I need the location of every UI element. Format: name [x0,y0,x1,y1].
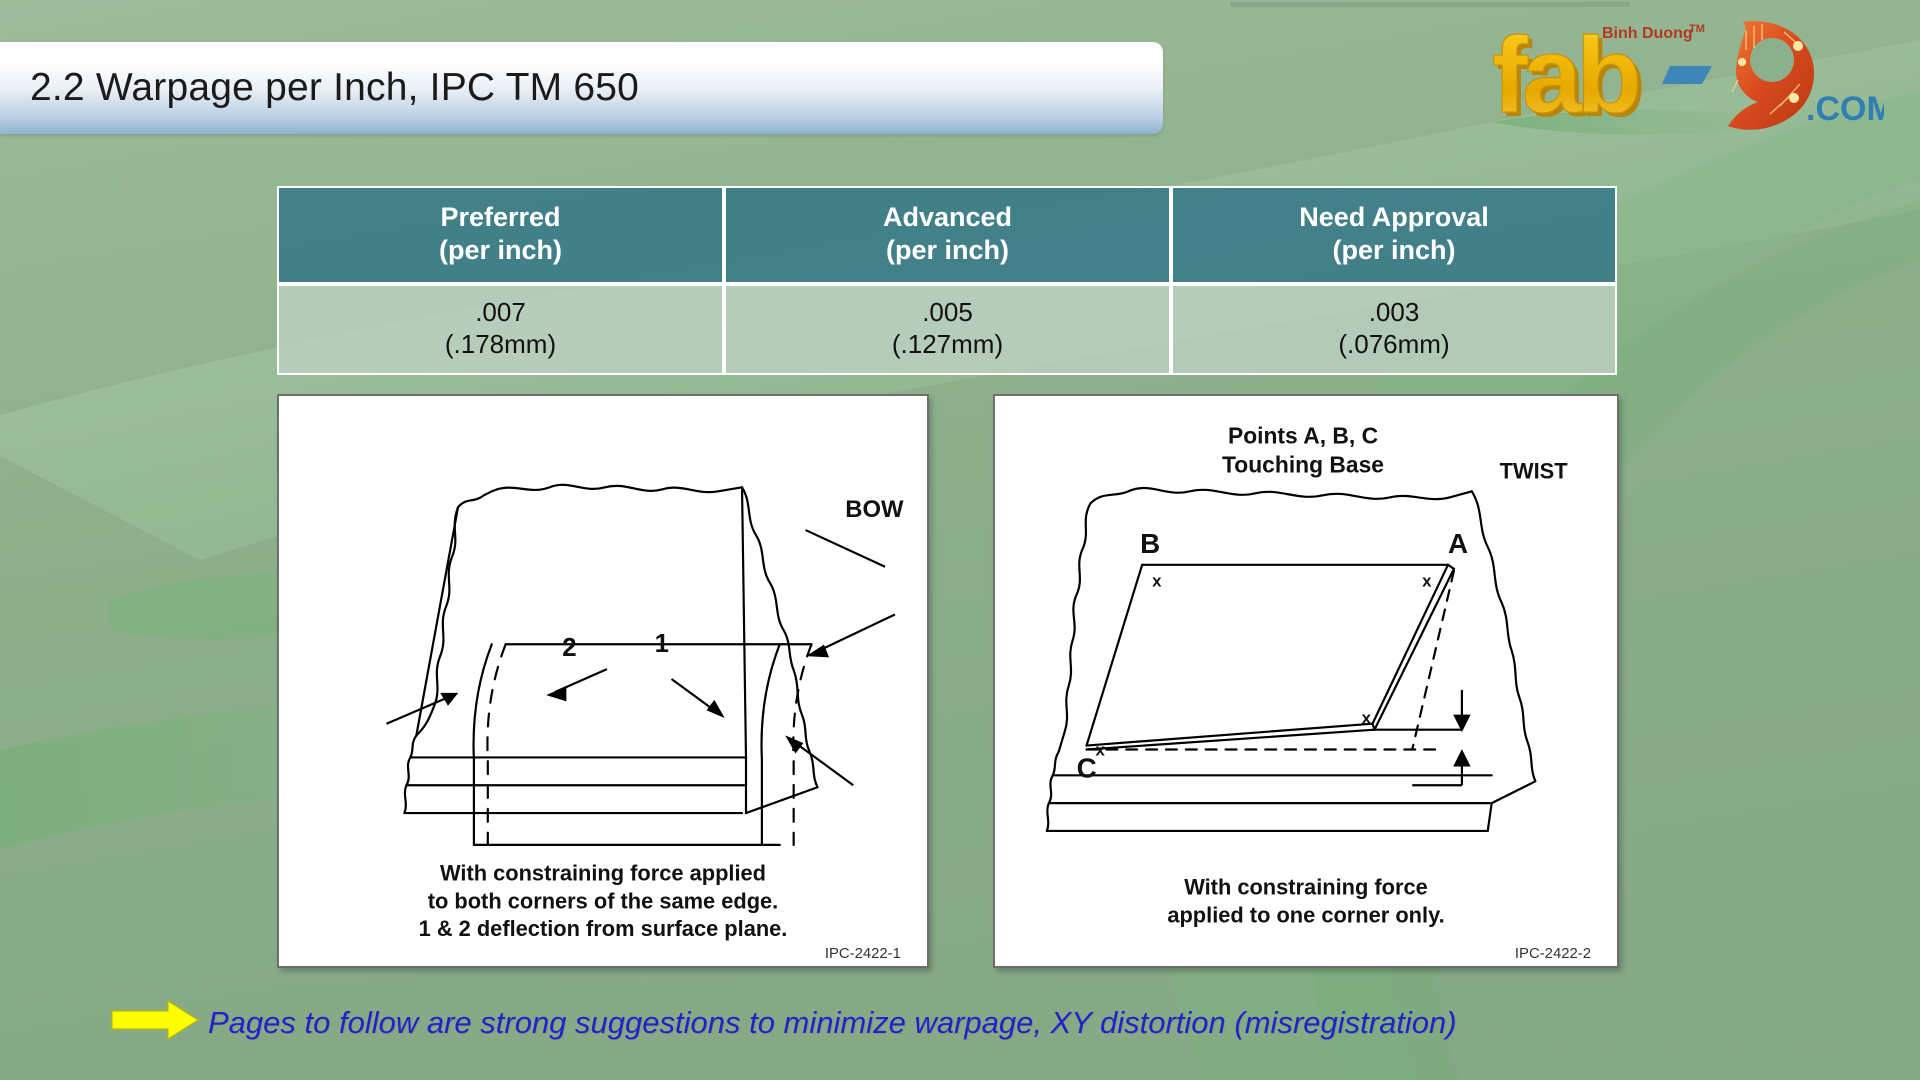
twist-heading-line-2: Touching Base [1222,451,1384,477]
column-header-line2: (per inch) [439,235,562,265]
bow-caption-line-3: 1 & 2 deflection from surface plane. [419,916,788,941]
twist-marker-c: x [1095,740,1105,759]
table-row: .007 (.178mm) .005 (.127mm) .003 (.076mm… [277,284,1617,375]
bow-diagram-panel: 2 1 BOW With constraining force applied … [277,394,929,968]
column-header-need-approval: Need Approval (per inch) [1171,186,1617,284]
bow-callout-2: 2 [562,634,576,662]
cell-advanced-value: .005 (.127mm) [724,284,1171,375]
cell-preferred-value: .007 (.178mm) [277,284,724,375]
twist-label: TWIST [1500,458,1569,483]
column-header-advanced: Advanced (per inch) [724,186,1171,284]
twist-reference: IPC-2422-2 [1515,946,1591,962]
bow-caption-line-1: With constraining force applied [440,861,766,886]
column-header-line2: (per inch) [1332,235,1455,265]
value-inch: .003 [1369,297,1420,327]
bow-reference: IPC-2422-1 [825,946,901,962]
footer-note-row: Pages to follow are strong suggestions t… [110,995,1870,1051]
twist-point-label-b: B [1140,528,1160,559]
column-header-preferred: Preferred (per inch) [277,186,724,284]
twist-point-label-a: A [1448,528,1468,559]
twist-marker-b: x [1152,572,1162,591]
column-header-line2: (per inch) [886,235,1009,265]
yellow-arrow-icon [110,999,200,1048]
logo-trademark: TM [1689,23,1705,35]
logo-tld: .COM [1806,90,1884,128]
column-header-line1: Advanced [883,202,1012,232]
bow-caption-line-2: to both corners of the same edge. [428,888,779,913]
value-inch: .007 [475,297,526,327]
page-title: 2.2 Warpage per Inch, IPC TM 650 [30,66,639,110]
cell-need-approval-value: .003 (.076mm) [1171,284,1617,375]
twist-heading-line-1: Points A, B, C [1228,423,1378,449]
twist-marker-mid: x [1362,709,1372,728]
twist-diagram-panel: Points A, B, C Touching Base TWIST A B C… [993,394,1619,968]
logo-tagline: Binh Duong [1602,25,1693,42]
bow-label: BOW [845,496,904,523]
value-inch: .005 [922,297,973,327]
table-header-row: Preferred (per inch) Advanced (per inch)… [277,186,1617,284]
value-mm: (.076mm) [1338,329,1449,359]
twist-marker-a: x [1422,572,1432,591]
value-mm: (.127mm) [892,329,1003,359]
twist-point-label-c: C [1077,752,1097,783]
twist-caption-line-2: applied to one corner only. [1167,902,1444,927]
column-header-line1: Need Approval [1299,202,1489,232]
column-header-line1: Preferred [440,202,560,232]
slide-title-bar: 2.2 Warpage per Inch, IPC TM 650 [0,42,1163,134]
warpage-spec-table: Preferred (per inch) Advanced (per inch)… [277,186,1617,375]
value-mm: (.178mm) [445,329,556,359]
bow-callout-1: 1 [655,630,669,658]
twist-caption-line-1: With constraining force [1184,875,1428,900]
fab9-logo[interactable]: fab fab .COM Binh Duong TM [1484,10,1884,145]
footer-note-text: Pages to follow are strong suggestions t… [208,1005,1457,1041]
